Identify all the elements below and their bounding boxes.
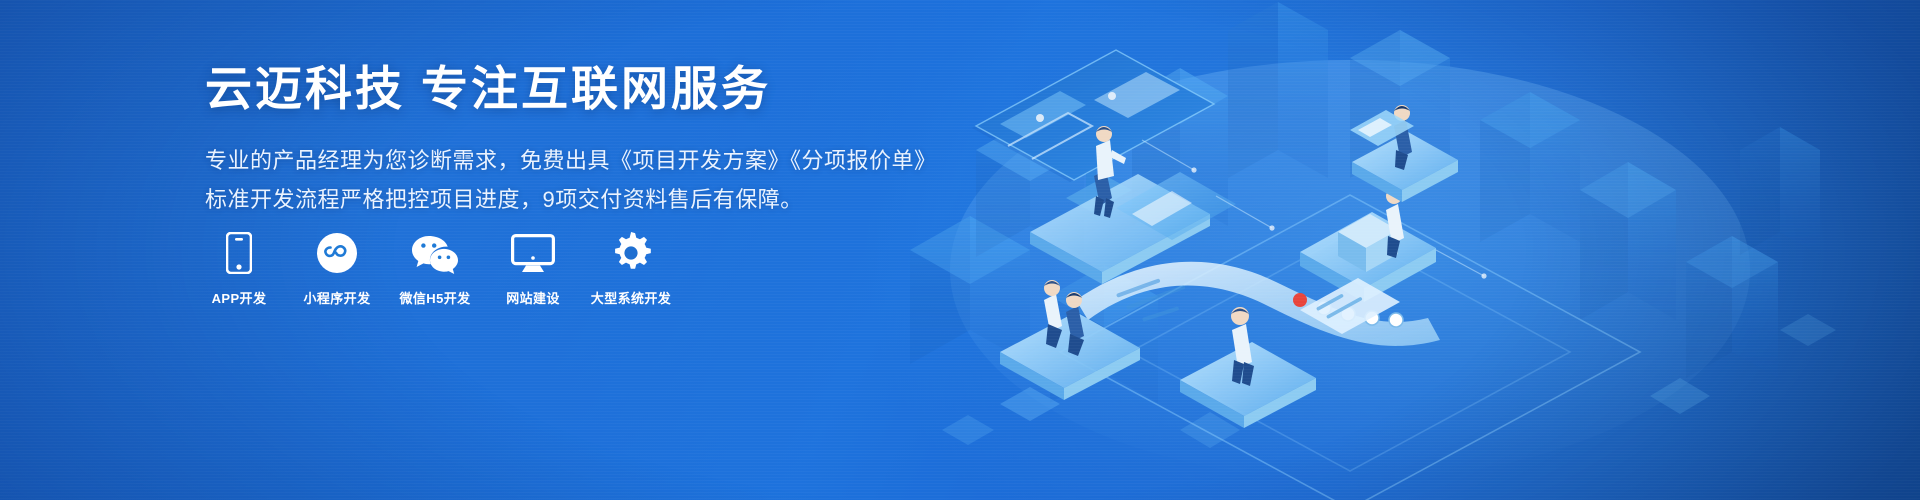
hero-copy: 云迈科技 专注互联网服务 专业的产品经理为您诊断需求，免费出具《项目开发方案》《… — [205, 62, 905, 219]
wechat-icon — [411, 228, 459, 274]
subtitle-line-1: 专业的产品经理为您诊断需求，免费出具《项目开发方案》《分项报价单》 — [205, 141, 905, 180]
monitor-icon — [511, 228, 555, 274]
mobile-phone-icon — [226, 228, 252, 274]
service-label-website: 网站建设 — [506, 288, 560, 307]
service-item-website[interactable]: 网站建设 — [497, 228, 569, 307]
headline: 云迈科技 专注互联网服务 — [205, 62, 905, 116]
service-label-app: APP开发 — [212, 288, 267, 307]
service-item-app[interactable]: APP开发 — [203, 228, 275, 307]
person-lower-left-b — [1066, 292, 1084, 356]
service-item-wechat-h5[interactable]: 微信H5开发 — [399, 228, 471, 307]
service-label-large-system: 大型系统开发 — [591, 288, 671, 307]
hero-banner: 云迈科技 专注互联网服务 专业的产品经理为您诊断需求，免费出具《项目开发方案》《… — [0, 0, 1920, 500]
gear-icon — [610, 228, 652, 274]
subtitle-line-2: 标准开发流程严格把控项目进度，9项交付资料售后有保障。 — [205, 180, 905, 219]
service-label-wechat-h5: 微信H5开发 — [399, 288, 470, 307]
illustration-isometric-tech — [880, 0, 1920, 500]
service-list: APP开发 小程序开发 — [203, 228, 667, 307]
subtitle: 专业的产品经理为您诊断需求，免费出具《项目开发方案》《分项报价单》 标准开发流程… — [205, 141, 905, 219]
person-lower-left-a — [1044, 280, 1062, 348]
service-item-large-system[interactable]: 大型系统开发 — [595, 228, 667, 307]
service-item-mini-program[interactable]: 小程序开发 — [301, 228, 373, 307]
mini-program-icon — [316, 228, 358, 274]
service-label-mini-program: 小程序开发 — [303, 288, 370, 307]
